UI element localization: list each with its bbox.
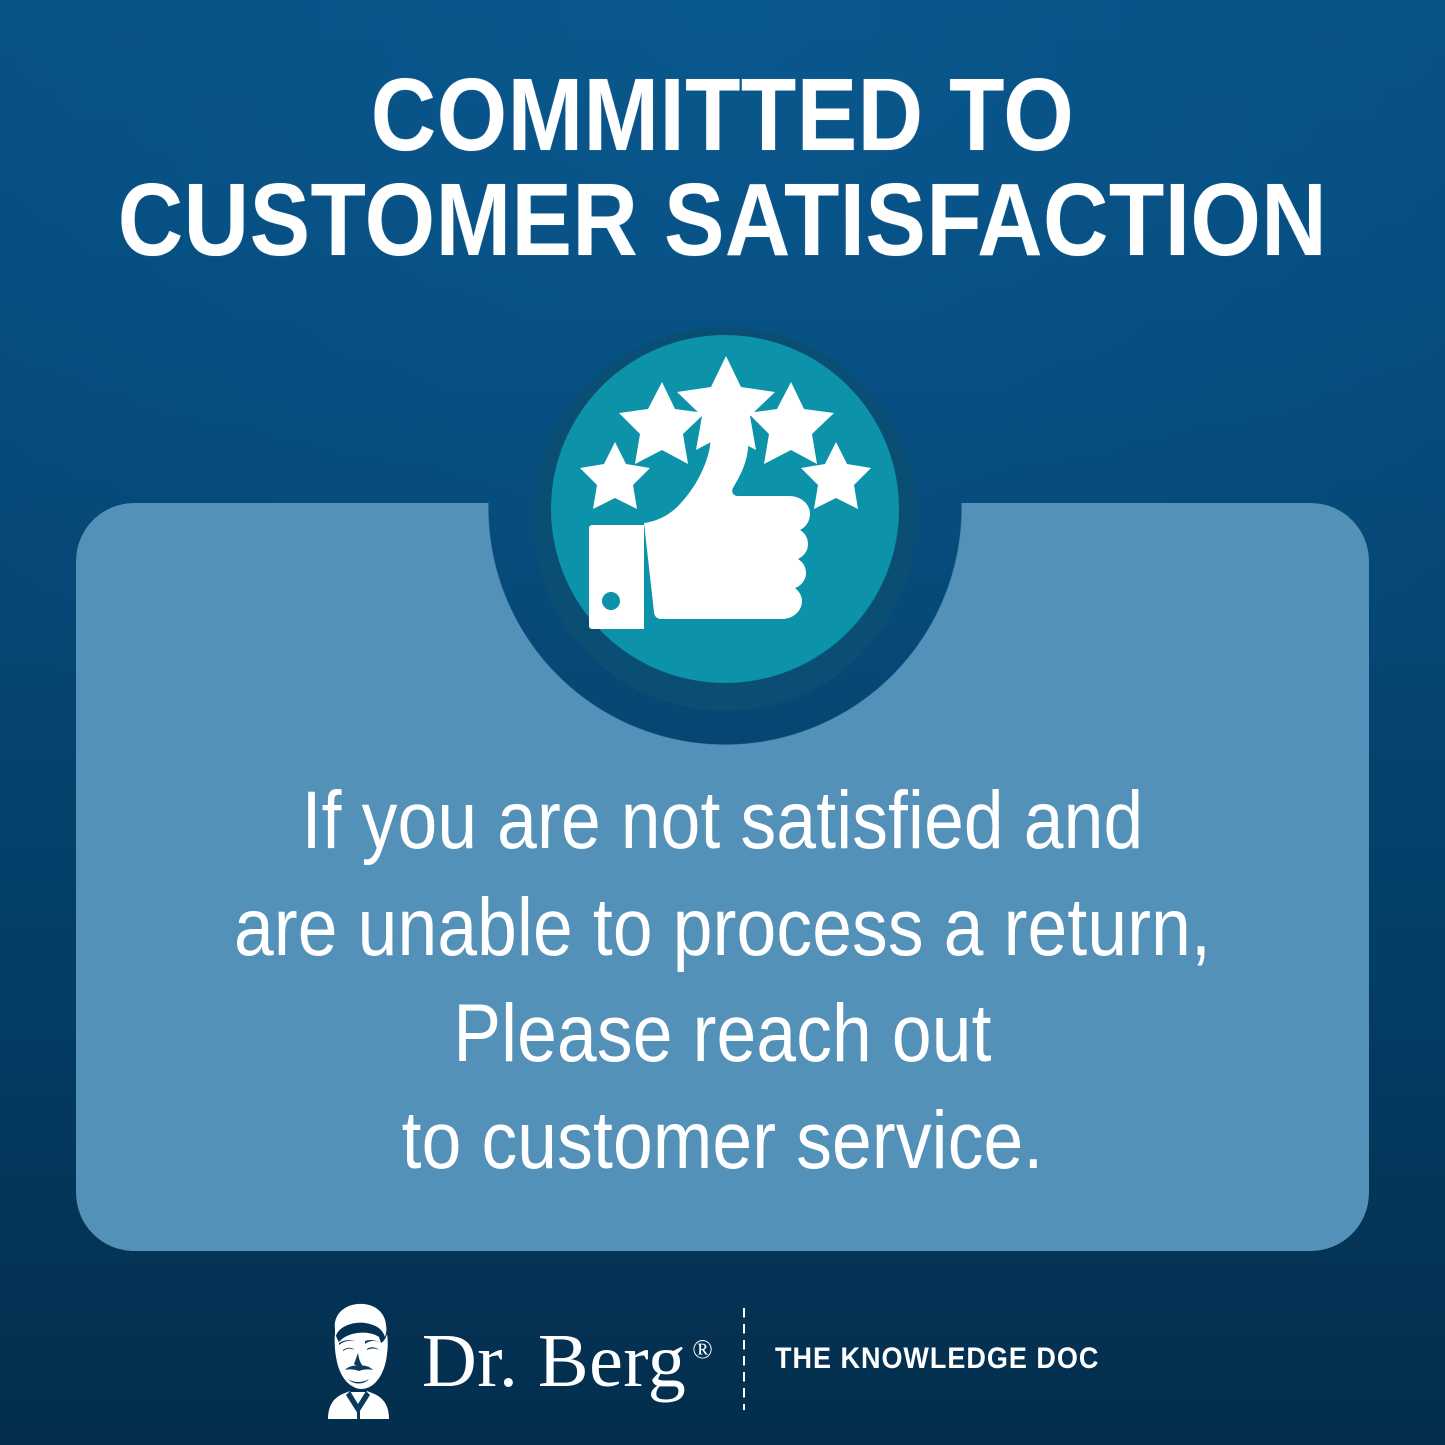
message-line-3: Please reach out <box>177 981 1267 1088</box>
registered-trademark-icon: ® <box>692 1334 713 1364</box>
brand-wordmark: Dr. Berg® <box>422 1321 707 1397</box>
cuff-button-icon <box>602 592 620 610</box>
thumb-cuff <box>589 525 644 629</box>
message-line-1: If you are not satisfied and <box>177 768 1267 875</box>
committed-to-customer-satisfaction-graphic: COMMITTED TO CUSTOMER SATISFACTION <box>0 0 1445 1445</box>
brand-name: Dr. Berg <box>422 1319 686 1403</box>
page-title: COMMITTED TO CUSTOMER SATISFACTION <box>87 62 1359 272</box>
message-line-2: are unable to process a return, <box>177 875 1267 982</box>
message-body: If you are not satisfied and are unable … <box>177 768 1267 1194</box>
brand-tagline: THE KNOWLEDGE DOC <box>775 1342 1099 1376</box>
headline-line-2: CUSTOMER SATISFACTION <box>87 167 1359 272</box>
brand-logo-lockup: Dr. Berg® THE KNOWLEDGE DOC <box>0 1296 1445 1422</box>
five-star-thumbs-up-icon <box>533 327 917 711</box>
headline-line-1: COMMITTED TO <box>87 62 1359 167</box>
message-line-4: to customer service. <box>177 1088 1267 1195</box>
dr-berg-portrait-icon <box>310 1299 406 1419</box>
medallion-artwork <box>533 327 917 711</box>
logo-divider <box>743 1308 745 1410</box>
